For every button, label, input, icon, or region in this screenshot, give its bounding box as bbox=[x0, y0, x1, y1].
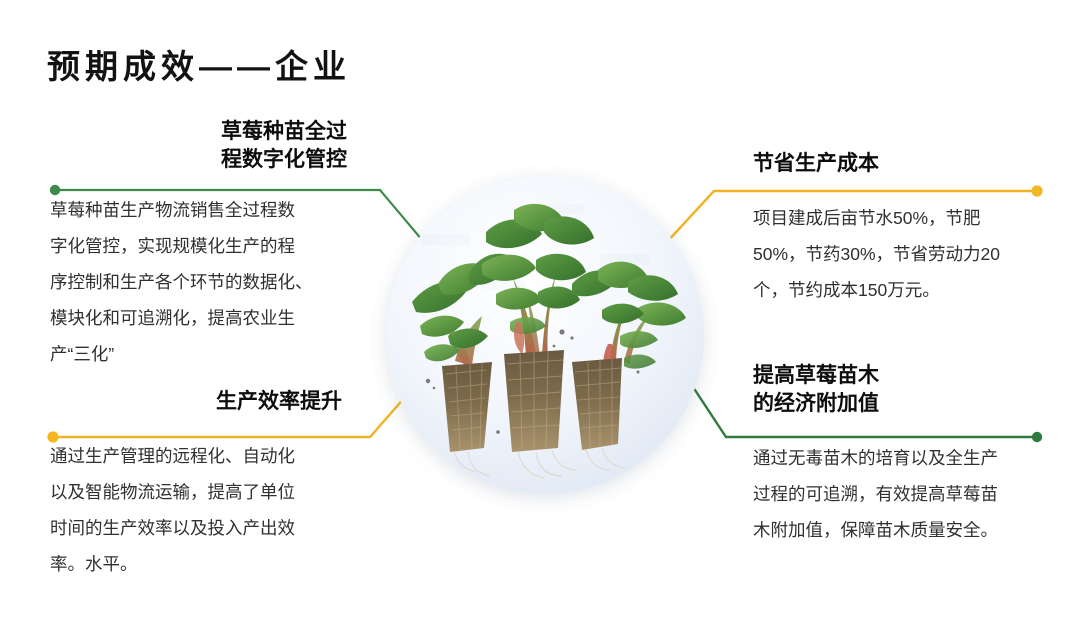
callout-bottom-left-body: 通过生产管理的远程化、自动化 以及智能物流运输，提高了单位 时间的生产效率以及投… bbox=[50, 438, 350, 582]
callout-top-left: 草莓种苗全过 程数字化管控 草莓种苗生产物流销售全过程数 字化管控，实现规模化生… bbox=[50, 118, 380, 372]
callout-bottom-left-heading: 生产效率提升 bbox=[145, 388, 413, 416]
callout-top-right-heading: 节省生产成本 bbox=[753, 150, 1053, 178]
callout-top-left-heading: 草莓种苗全过 程数字化管控 bbox=[150, 118, 418, 174]
callout-top-left-body: 草莓种苗生产物流销售全过程数 字化管控，实现规模化生产的程 序控制和生产各个环节… bbox=[50, 192, 350, 372]
callout-top-right-body: 项目建成后亩节水50%，节肥 50%，节药30%，节省劳动力20 个，节约成本1… bbox=[753, 200, 1045, 308]
slide-canvas: 预期成效——企业 bbox=[0, 0, 1080, 624]
callout-bottom-right-body: 通过无毒苗木的培育以及全生产 过程的可追溯，有效提高草莓苗 木附加值，保障苗木质… bbox=[753, 440, 1048, 548]
callout-bottom-right-heading: 提高草莓苗木 的经济附加值 bbox=[753, 362, 1053, 418]
callout-bottom-left: 生产效率提升 通过生产管理的远程化、自动化 以及智能物流运输，提高了单位 时间的… bbox=[50, 388, 380, 582]
strawberry-seedlings-image bbox=[386, 176, 704, 494]
callout-top-right: 节省生产成本 项目建成后亩节水50%，节肥 50%，节药30%，节省劳动力20 … bbox=[753, 150, 1053, 308]
callout-bottom-right: 提高草莓苗木 的经济附加值 通过无毒苗木的培育以及全生产 过程的可追溯，有效提高… bbox=[753, 362, 1053, 548]
center-photo bbox=[386, 176, 704, 494]
page-title: 预期成效——企业 bbox=[47, 44, 351, 90]
